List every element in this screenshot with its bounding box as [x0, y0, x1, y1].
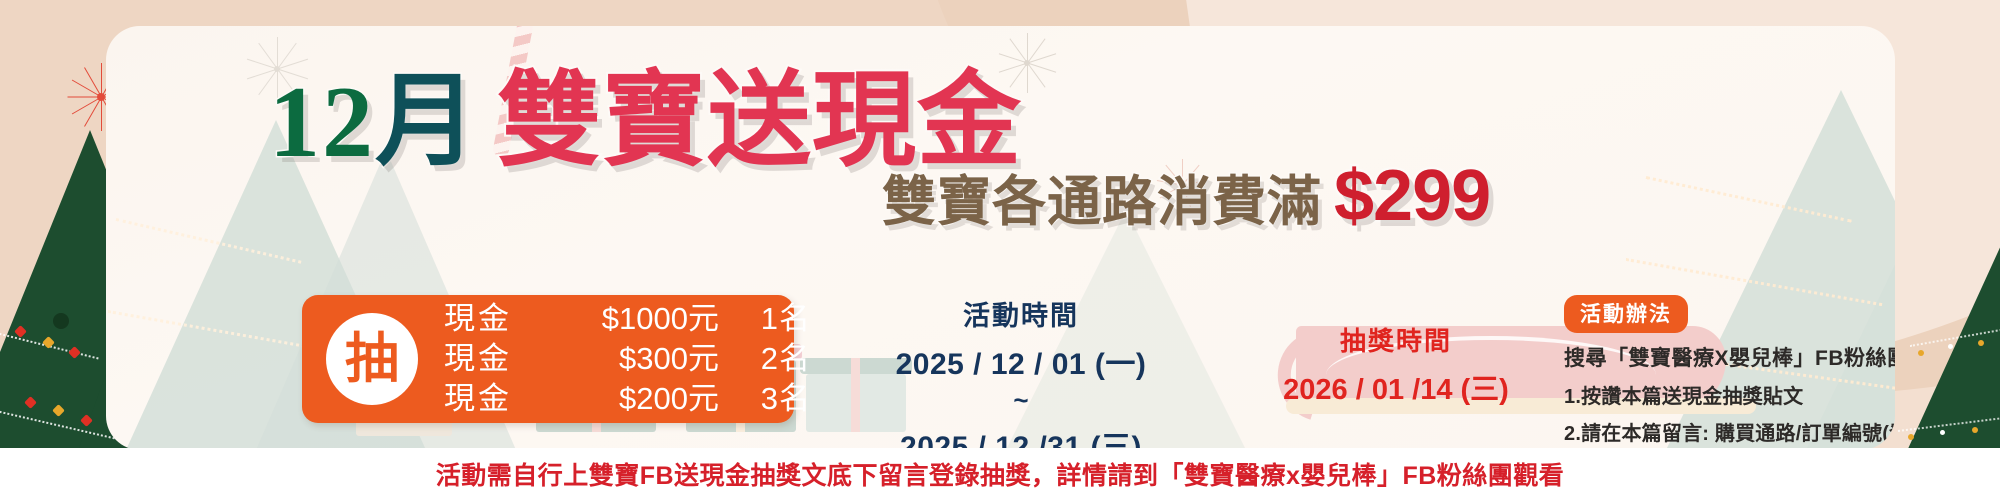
- footer-notice-text: 活動需自行上雙寶FB送現金抽獎文底下留言登錄抽獎，詳情請到「雙寶醫療x嬰兒棒」F…: [436, 456, 1565, 492]
- headline-main: 雙寶送現金: [497, 70, 1022, 174]
- prize-label: 現金: [444, 339, 539, 379]
- tree-light: [1972, 427, 1978, 433]
- tree-ornament-dot-left: [53, 313, 69, 329]
- tree-light: [1918, 350, 1924, 356]
- subheadline-price: $299: [1334, 162, 1490, 230]
- rules-lead: 搜尋「雙寶醫療X嬰兒棒」FB粉絲團: [1564, 342, 1895, 372]
- sparkle-icon: [1026, 62, 1028, 64]
- promotional-banner: 12月 雙寶送現金 雙寶各通路消費滿 $299 抽 現金 $1000元 1名 現…: [0, 0, 2000, 500]
- tree-light: [1940, 430, 1945, 435]
- prize-row: 現金 $200元 3名: [444, 379, 811, 419]
- prize-amount: $300元: [539, 339, 719, 379]
- rules-block: 活動辦法 搜尋「雙寶醫療X嬰兒棒」FB粉絲團 1.按讚本篇送現金抽獎貼文 2.請…: [1564, 295, 1895, 450]
- prize-quantity: 2名: [719, 339, 811, 379]
- headline-month-char: 月: [375, 66, 479, 179]
- prize-row: 現金 $1000元 1名: [444, 299, 811, 339]
- headline: 12月 雙寶送現金: [269, 70, 1022, 174]
- tree-light: [1908, 434, 1914, 440]
- activity-time-title: 活動時間: [846, 294, 1196, 333]
- prize-quantity: 3名: [719, 379, 811, 419]
- prize-rows: 現金 $1000元 1名 現金 $300元 2名 現金 $200元 3名: [444, 299, 811, 420]
- tree-light: [1948, 344, 1953, 349]
- prize-amount: $1000元: [539, 299, 719, 339]
- rules-item-2: 2.請在本篇留言: 購買通路/訂單編號(發票號碼): [1564, 417, 1895, 446]
- prize-label: 現金: [444, 379, 539, 419]
- headline-month: 12月: [269, 72, 479, 174]
- prize-amount: $200元: [539, 379, 719, 419]
- activity-time-block: 活動時間 2025 / 12 / 01 (一) ~ 2025 / 12 /31 …: [846, 294, 1196, 450]
- headline-month-number: 12: [269, 66, 375, 179]
- prize-label: 現金: [444, 299, 539, 339]
- prize-quantity: 1名: [719, 299, 811, 339]
- sparkle-icon: [100, 96, 102, 98]
- activity-time-start: 2025 / 12 / 01 (一): [846, 339, 1196, 383]
- activity-time-separator: ~: [846, 385, 1196, 416]
- draw-time-date: 2026 / 01 /14 (三): [1236, 366, 1556, 408]
- subheadline-condition: 雙寶各通路消費滿: [882, 175, 1322, 229]
- rules-item-1: 1.按讚本篇送現金抽獎貼文: [1564, 380, 1895, 409]
- prize-box: 抽 現金 $1000元 1名 現金 $300元 2名 現金 $200元 3名: [302, 295, 794, 423]
- draw-time-title: 抽獎時間: [1236, 321, 1556, 358]
- rules-badge: 活動辦法: [1564, 295, 1688, 333]
- main-card: 12月 雙寶送現金 雙寶各通路消費滿 $299 抽 現金 $1000元 1名 現…: [106, 26, 1895, 450]
- tree-light: [1978, 340, 1984, 346]
- footer-notice-bar: 活動需自行上雙寶FB送現金抽獎文底下留言登錄抽獎，詳情請到「雙寶醫療x嬰兒棒」F…: [0, 448, 2000, 500]
- draw-time-block: 抽獎時間 2026 / 01 /14 (三): [1236, 321, 1556, 408]
- activity-time-end: 2025 / 12 /31 (三): [846, 422, 1196, 450]
- draw-badge-icon: 抽: [326, 313, 418, 405]
- draw-badge-label: 抽: [345, 332, 399, 386]
- subheadline: 雙寶各通路消費滿 $299: [882, 162, 1490, 230]
- prize-row: 現金 $300元 2名: [444, 339, 811, 379]
